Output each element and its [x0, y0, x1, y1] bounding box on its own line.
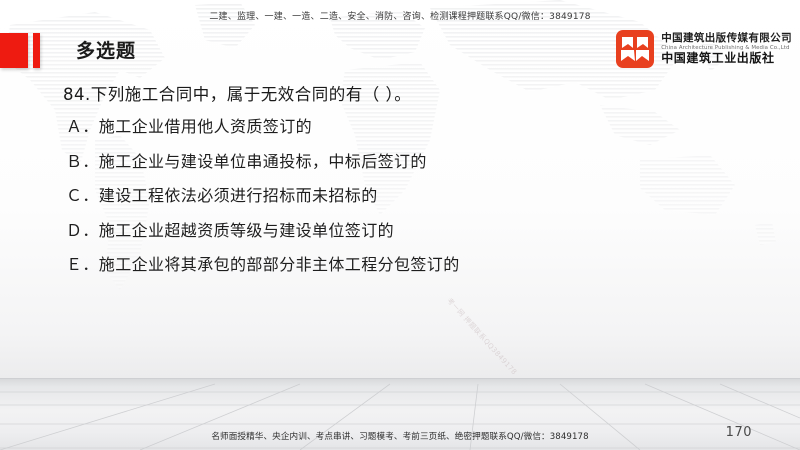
publisher-press-cn: 中国建筑工业出版社: [661, 52, 792, 66]
red-accent-block-large: [0, 33, 28, 68]
question-body: 84.下列施工合同中，属于无效合同的有（ ）。 Ａ．施工企业借用他人资质签订的 …: [63, 80, 763, 283]
page-title: 多选题: [76, 38, 136, 64]
question-option-e[interactable]: Ｅ．施工企业将其承包的部部分非主体工程分包签订的: [63, 248, 763, 283]
footer-text: 名师面授精华、央企内训、考点串讲、习题模考、考前三页纸、绝密押题联系QQ/微信：…: [0, 431, 800, 443]
question-option-a[interactable]: Ａ．施工企业借用他人资质签订的: [63, 110, 763, 145]
publisher-logo-icon: [616, 30, 654, 68]
top-banner-text: 二建、监理、一建、一造、二造、安全、消防、咨询、检测课程押题联系QQ/微信：38…: [0, 11, 800, 23]
presentation-slide: 二建、监理、一建、一造、二造、安全、消防、咨询、检测课程押题联系QQ/微信：38…: [0, 0, 800, 450]
question-option-d[interactable]: Ｄ．施工企业超越资质等级与建设单位签订的: [63, 214, 763, 249]
question-stem: 84.下列施工合同中，属于无效合同的有（ ）。: [63, 80, 763, 110]
publisher-logo: 中国建筑出版传媒有限公司 China Architecture Publishi…: [616, 30, 792, 68]
publisher-company-cn: 中国建筑出版传媒有限公司: [661, 32, 792, 44]
question-option-b[interactable]: Ｂ．施工企业与建设单位串通投标，中标后签订的: [63, 145, 763, 180]
red-accent-block-small: [33, 33, 40, 68]
page-number: 170: [726, 425, 752, 440]
question-option-c[interactable]: Ｃ．建设工程依法必须进行招标而未招标的: [63, 179, 763, 214]
open-book-icon: [620, 35, 650, 63]
publisher-logo-text: 中国建筑出版传媒有限公司 China Architecture Publishi…: [661, 32, 792, 66]
